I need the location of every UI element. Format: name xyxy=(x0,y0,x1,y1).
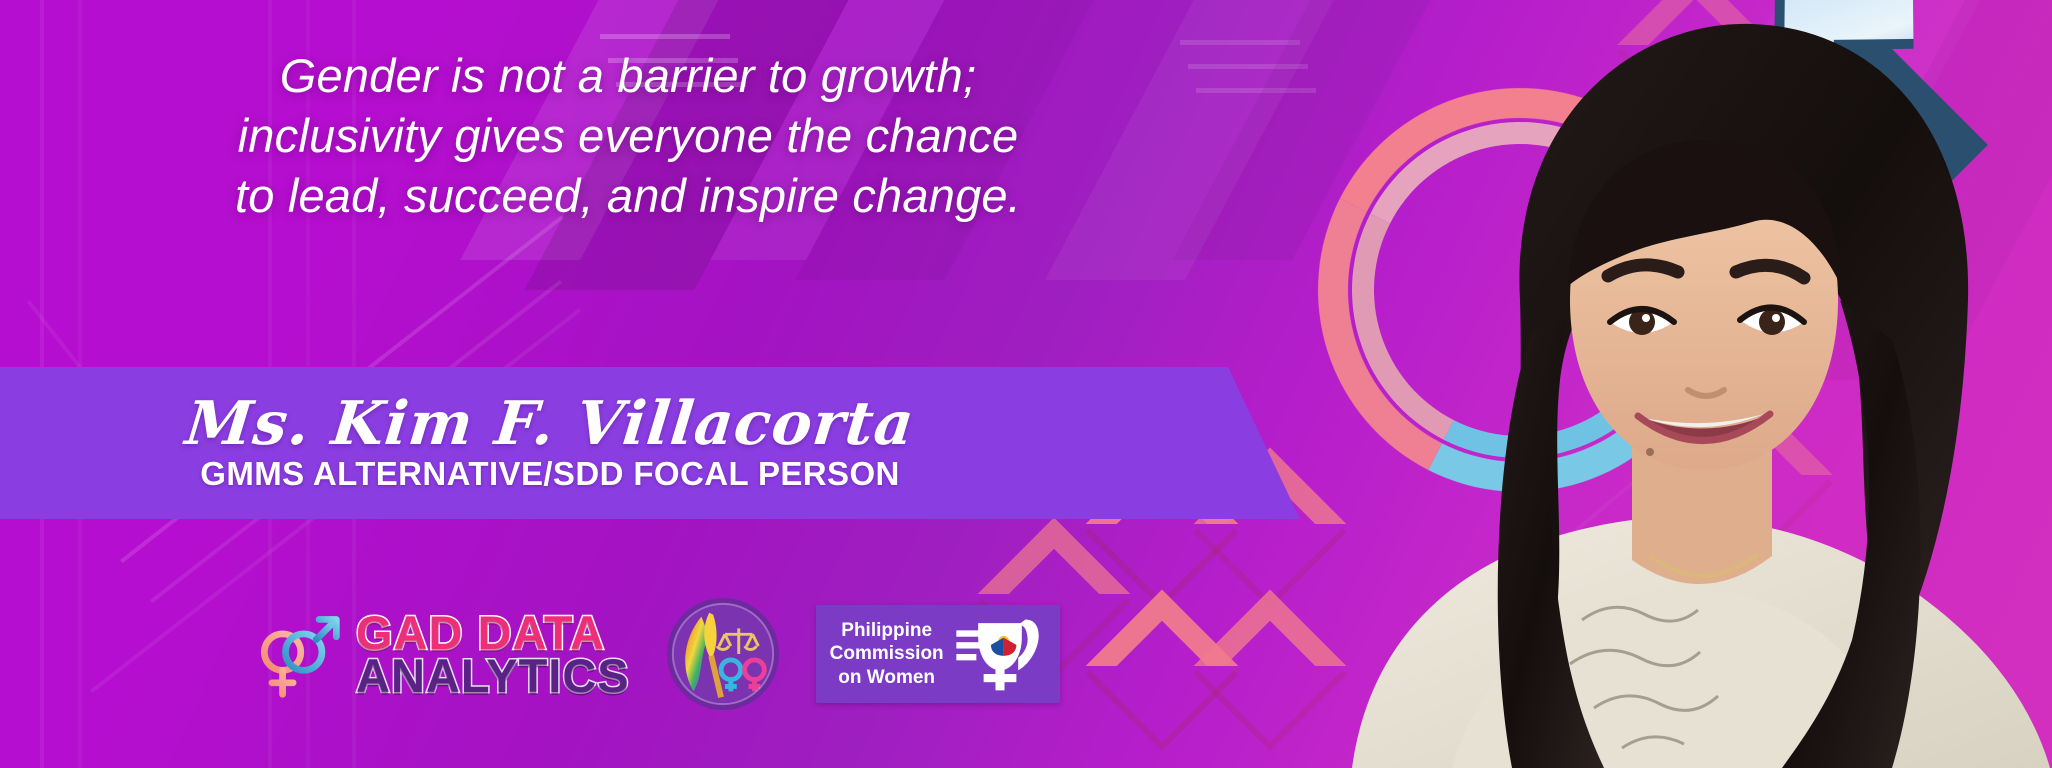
background-accent-line xyxy=(600,34,730,39)
quote-line-2: inclusivity gives everyone the chance xyxy=(168,106,1088,166)
quote-line-1: Gender is not a barrier to growth; xyxy=(168,46,1088,106)
pcw-logo: Philippine Commission on Women xyxy=(816,605,1060,703)
gad-logo-line-2: ANALYTICS xyxy=(356,654,630,697)
pink-chevron xyxy=(1194,590,1347,743)
logo-strip: GAD DATA ANALYTICS xyxy=(248,595,1060,713)
gad-data-analytics-logo: GAD DATA ANALYTICS xyxy=(248,606,630,702)
male-female-interlocked-symbol-icon xyxy=(248,606,344,702)
woman-portrait-image xyxy=(1332,0,2052,768)
gad-seal-logo xyxy=(664,595,782,713)
speaker-name-banner: Ms. Kim F. Villacorta GMMS ALTERNATIVE/S… xyxy=(0,367,1300,519)
speaker-name: Ms. Kim F. Villacorta xyxy=(183,394,917,454)
speaker-role: GMMS ALTERNATIVE/SDD FOCAL PERSON xyxy=(200,456,900,492)
quote-line-3: to lead, succeed, and inspire change. xyxy=(168,166,1088,226)
gad-speaker-banner: Gender is not a barrier to growth; inclu… xyxy=(0,0,2052,768)
pcw-logo-text: Philippine Commission on Women xyxy=(830,619,944,689)
speaker-portrait xyxy=(1332,0,2052,768)
gad-logo-line-1: GAD DATA xyxy=(356,611,630,654)
pcw-female-symbol-mark-icon xyxy=(954,614,1046,694)
quote-text: Gender is not a barrier to growth; inclu… xyxy=(168,46,1088,226)
